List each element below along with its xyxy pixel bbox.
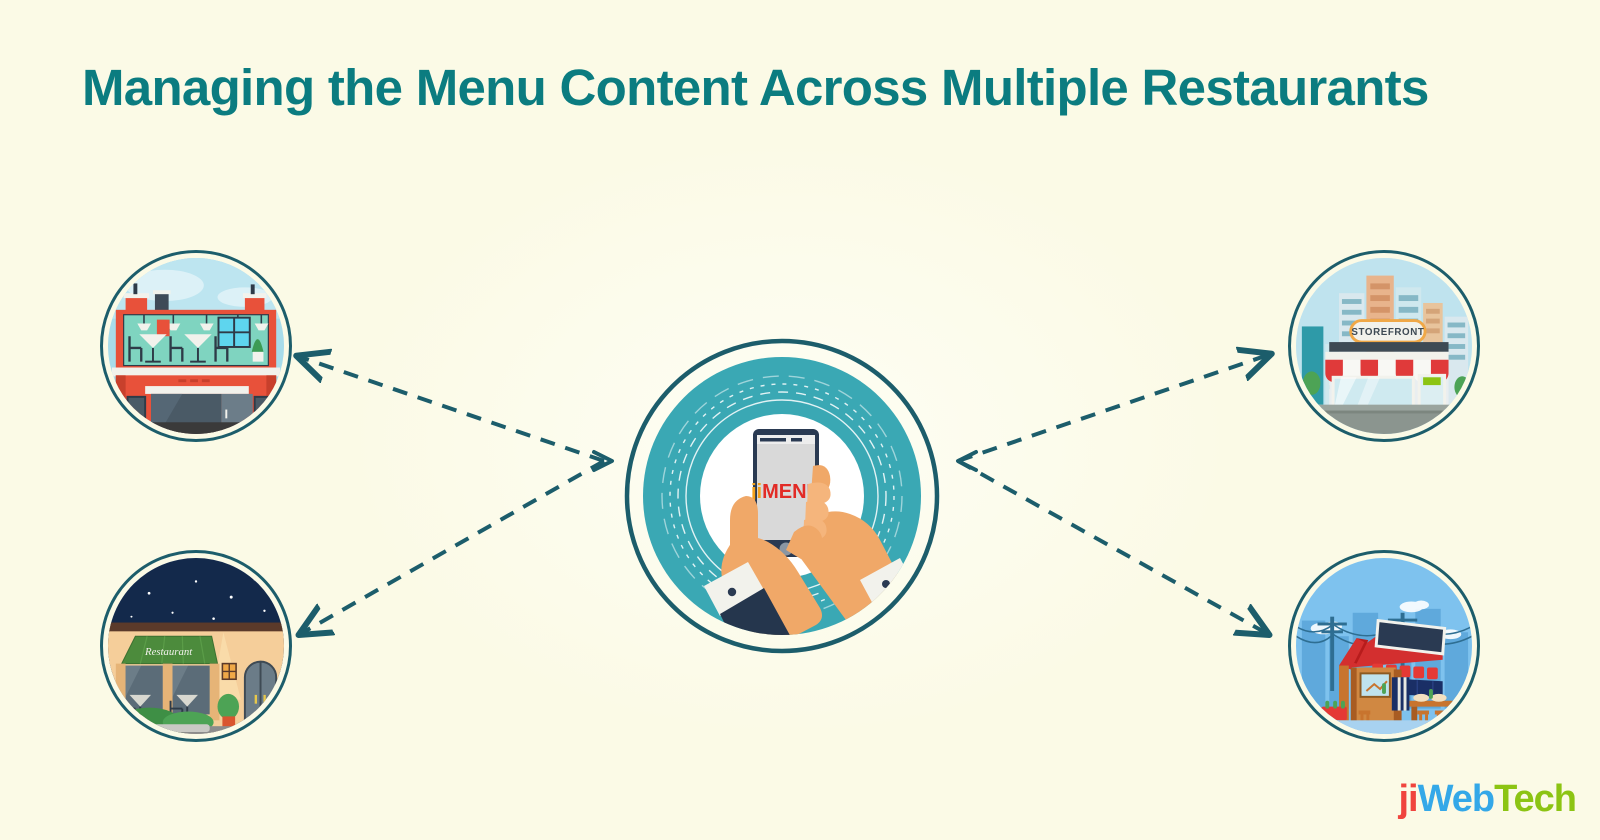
brand-logo-part-ji: ji — [1398, 778, 1417, 820]
svg-text:Restaurant: Restaurant — [144, 646, 193, 658]
node-night-restaurant[interactable]: Restaurant — [100, 550, 292, 742]
svg-text:STOREFRONT: STOREFRONT — [1351, 327, 1424, 338]
connector-hub-to-top-left — [300, 357, 612, 470]
node-asian-restaurant[interactable] — [1288, 550, 1480, 742]
infographic-canvas: Managing the Menu Content Across Multipl… — [0, 0, 1600, 840]
page-title: Managing the Menu Content Across Multipl… — [82, 58, 1429, 117]
node-restaurant-interior[interactable] — [100, 250, 292, 442]
node-night-restaurant-art: Restaurant — [108, 558, 284, 734]
node-storefront[interactable]: STOREFRONT — [1288, 250, 1480, 442]
central-app-hub[interactable]: jiMENU — [608, 336, 956, 656]
brand-logo-part-web: Web — [1418, 778, 1495, 820]
connector-hub-to-top-right — [958, 355, 1268, 470]
node-storefront-art: STOREFRONT — [1296, 258, 1472, 434]
brand-logo-part-tech: Tech — [1494, 778, 1576, 820]
brand-logo[interactable]: jiWebTech — [1398, 780, 1576, 818]
connector-hub-to-bottom-right — [958, 461, 1266, 633]
connector-hub-to-bottom-left — [302, 461, 604, 633]
node-restaurant-interior-art — [108, 258, 284, 434]
node-asian-restaurant-art — [1296, 558, 1472, 734]
